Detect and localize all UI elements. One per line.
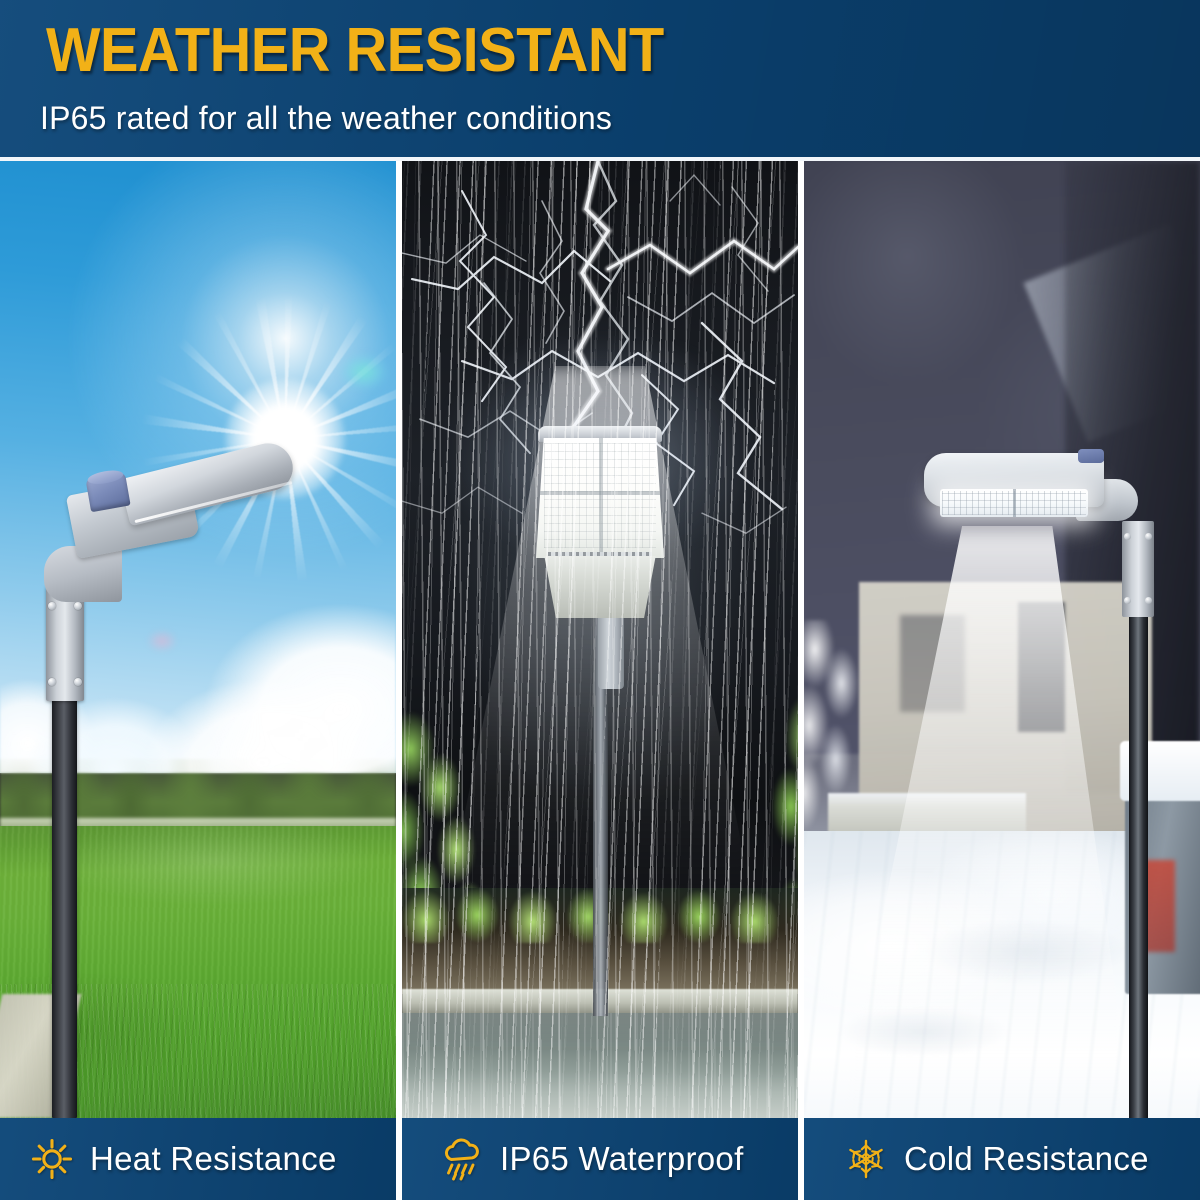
bracket-bolt <box>1124 533 1131 540</box>
rain-streaks-overlay <box>402 161 798 1118</box>
panel-divider <box>798 322 804 1200</box>
bracket-bolt <box>74 678 82 686</box>
scene-panel-heat <box>0 161 396 1118</box>
scene-panel-waterproof <box>402 161 798 1118</box>
lens-flare-icon <box>341 355 387 389</box>
bracket-bolt <box>1145 533 1152 540</box>
lens-flare-secondary-icon <box>147 630 177 652</box>
bracket-bolt <box>74 602 82 610</box>
snowflake-icon <box>842 1135 890 1183</box>
photocell-sensor <box>1078 449 1104 463</box>
bracket-bolt <box>48 602 56 610</box>
photocell-sensor <box>85 472 130 512</box>
scene-panel-group <box>0 161 1200 1118</box>
feature-caption-label: Heat Resistance <box>90 1140 337 1178</box>
panel-divider <box>396 322 402 1200</box>
feature-caption-heat: Heat Resistance <box>0 1118 396 1200</box>
header-banner: WEATHER RESISTANT IP65 rated for all the… <box>0 0 1200 157</box>
feature-caption-label: Cold Resistance <box>904 1140 1149 1178</box>
bracket-bolt <box>48 678 56 686</box>
sun-icon <box>28 1135 76 1183</box>
feature-caption-cold: Cold Resistance <box>804 1118 1200 1200</box>
feature-caption-bar-group: Heat Resistance IP65 Waterproof <box>0 1118 1200 1200</box>
product-feature-banner: WEATHER RESISTANT IP65 rated for all the… <box>0 0 1200 1200</box>
header-divider <box>0 157 1200 161</box>
scene-panel-cold <box>804 161 1200 1118</box>
light-pole <box>1129 546 1148 1118</box>
feature-caption-waterproof: IP65 Waterproof <box>402 1118 798 1200</box>
feature-caption-label: IP65 Waterproof <box>500 1140 744 1178</box>
bracket-bolt <box>1124 597 1131 604</box>
page-subtitle: IP65 rated for all the weather condition… <box>40 100 612 136</box>
pole-mounting-bracket <box>1122 521 1154 617</box>
pole-mounting-bracket <box>46 586 84 701</box>
fixture-led-panel <box>940 489 1088 517</box>
bracket-bolt <box>1145 597 1152 604</box>
rain-cloud-icon <box>438 1135 486 1183</box>
page-title: WEATHER RESISTANT <box>46 20 664 82</box>
